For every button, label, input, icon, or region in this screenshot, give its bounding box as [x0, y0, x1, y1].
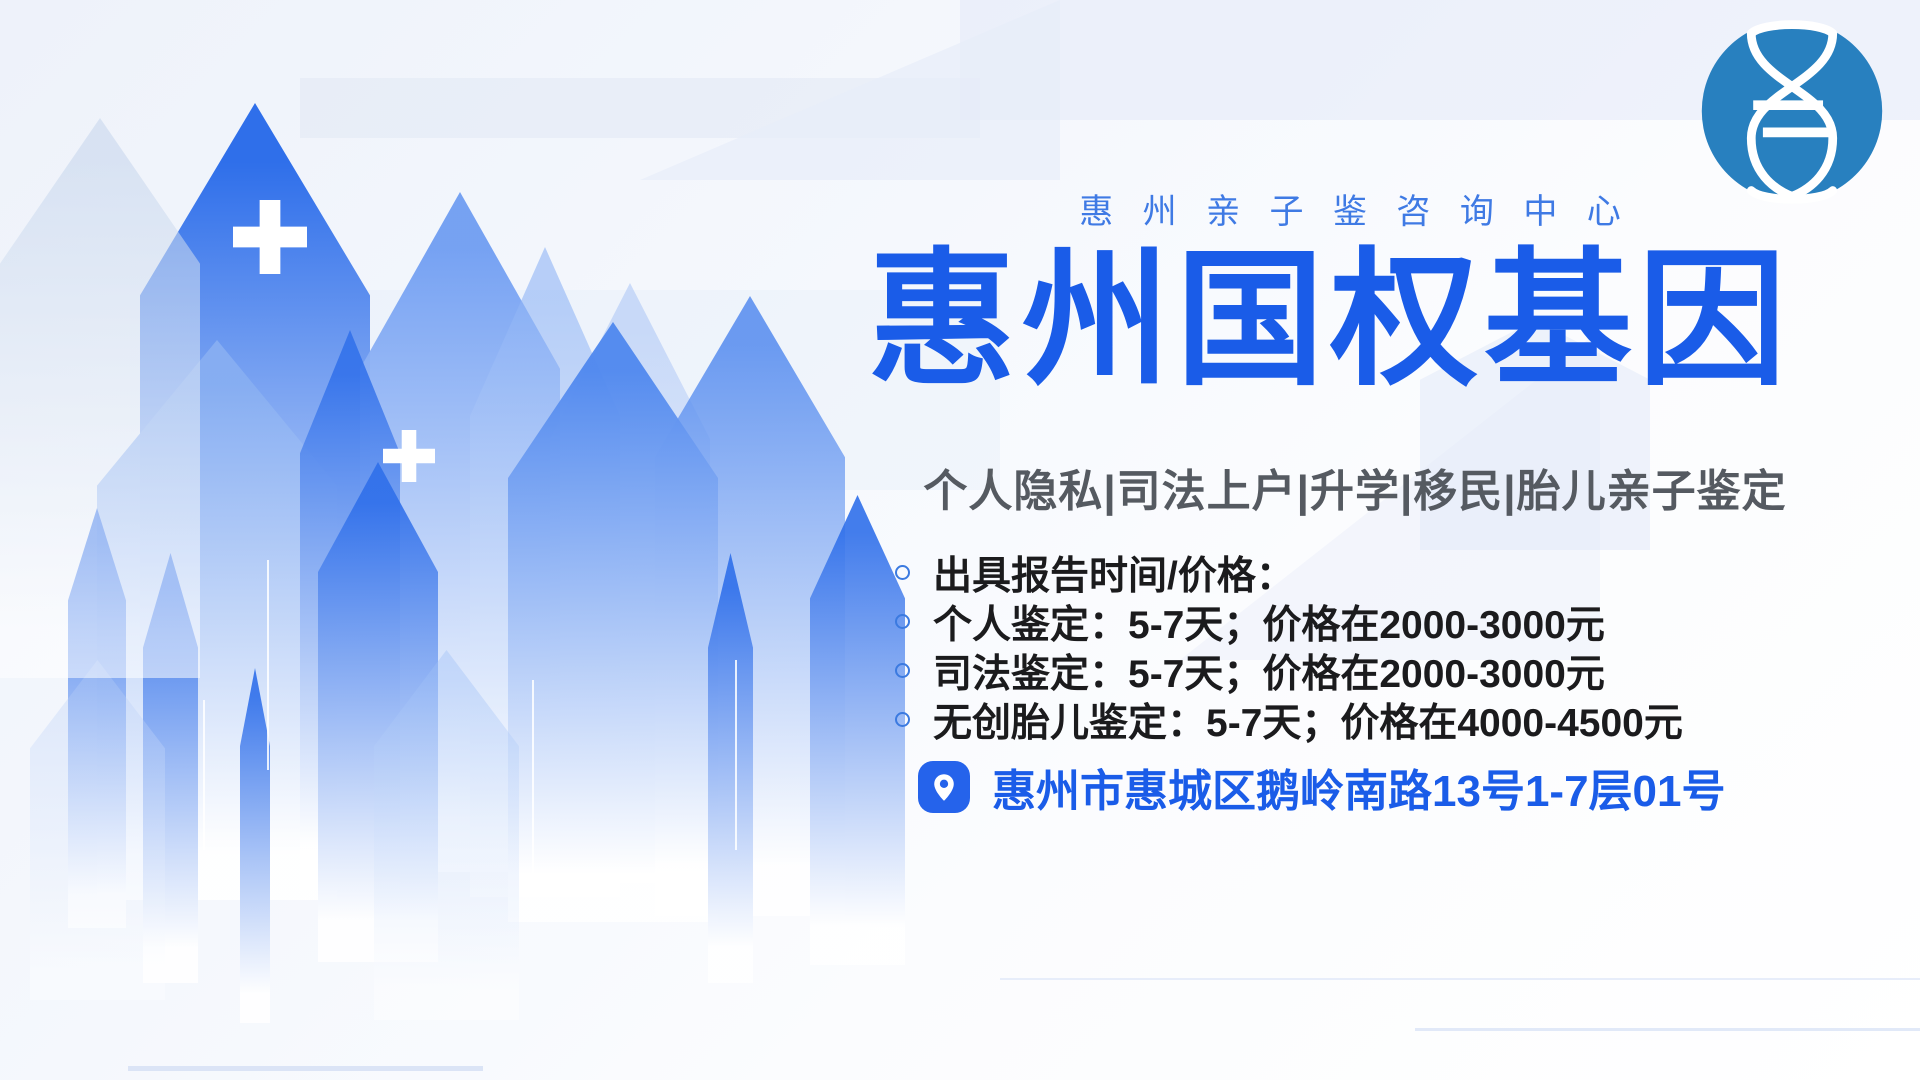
location-pin-icon	[918, 761, 970, 813]
address-text: 惠州市惠城区鹅岭南路13号1-7层01号	[992, 755, 1725, 819]
content-column: 惠 州 亲 子 鉴 咨 询 中 心 惠州国权基因 个人隐私|司法上户|升学|移民…	[790, 0, 1920, 1080]
bullet-circle-icon	[895, 712, 910, 727]
building-highlight-streak	[203, 700, 205, 850]
list-item: 无创胎儿鉴定：5-7天；价格在4000-4500元	[895, 695, 1915, 744]
building-highlight-streak	[267, 560, 269, 770]
services-line: 个人隐私|司法上户|升学|移民|胎儿亲子鉴定	[790, 455, 1920, 519]
list-item: 个人鉴定：5-7天；价格在2000-3000元	[895, 597, 1915, 646]
company-subtitle: 惠 州 亲 子 鉴 咨 询 中 心	[790, 184, 1920, 233]
bullet-circle-icon	[895, 663, 910, 678]
list-item: 出具报告时间/价格：	[895, 548, 1915, 597]
bullet-circle-icon	[895, 614, 910, 629]
marketing-banner: 惠 州 亲 子 鉴 咨 询 中 心 惠州国权基因 个人隐私|司法上户|升学|移民…	[0, 0, 1920, 1080]
list-item-label: 个人鉴定：5-7天；价格在2000-3000元	[933, 594, 1605, 650]
price-list: 出具报告时间/价格： 个人鉴定：5-7天；价格在2000-3000元 司法鉴定：…	[895, 548, 1915, 744]
building-shape	[0, 118, 200, 678]
list-item-label: 司法鉴定：5-7天；价格在2000-3000元	[933, 643, 1605, 699]
page-title: 惠州国权基因	[765, 236, 1895, 404]
address-row: 惠州市惠城区鹅岭南路13号1-7层01号	[918, 755, 1725, 819]
list-item-label: 出具报告时间/价格：	[933, 545, 1295, 601]
list-item: 司法鉴定：5-7天；价格在2000-3000元	[895, 646, 1915, 695]
bullet-circle-icon	[895, 565, 910, 580]
building-highlight-streak	[532, 680, 534, 880]
list-item-label: 无创胎儿鉴定：5-7天；价格在4000-4500元	[933, 692, 1683, 748]
dna-helix-icon	[1695, 14, 1889, 208]
building-highlight-streak	[735, 660, 737, 850]
